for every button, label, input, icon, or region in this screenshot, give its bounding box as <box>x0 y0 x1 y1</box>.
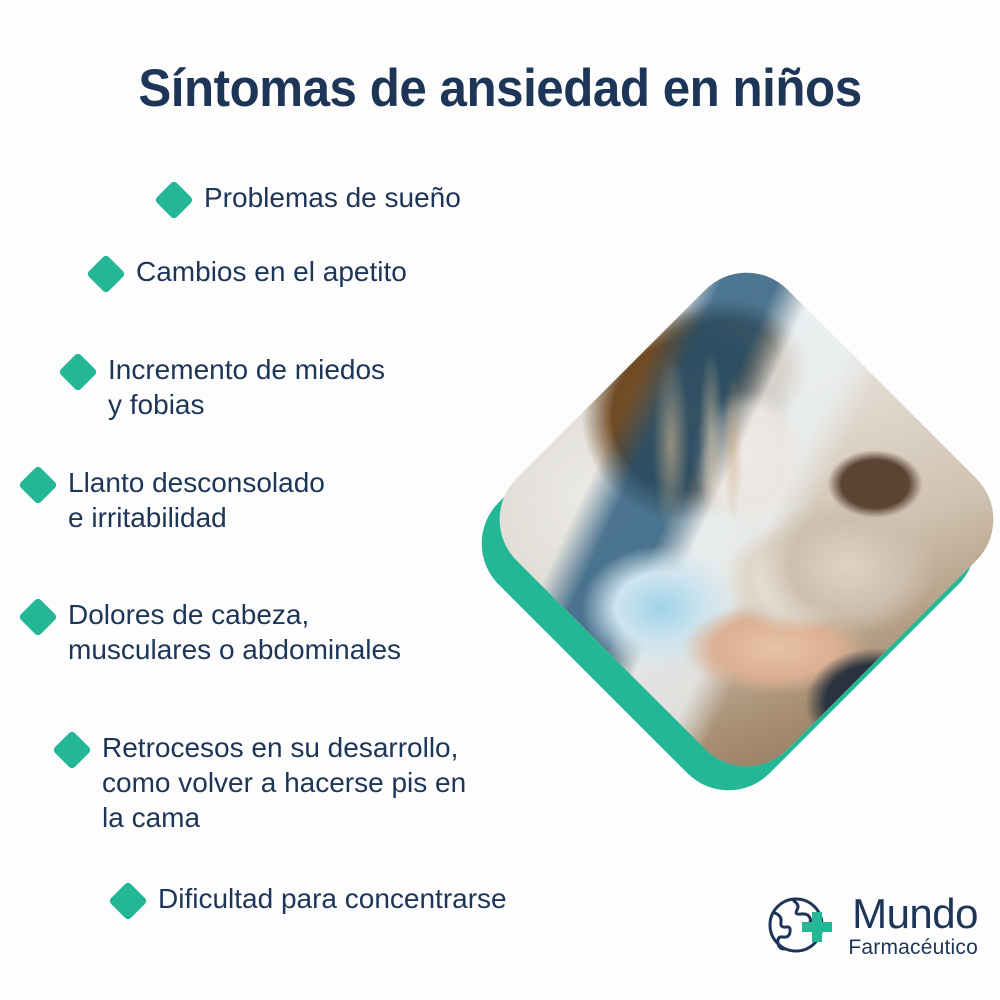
list-item: Llanto desconsolado e irritabilidad <box>24 465 325 535</box>
list-item-label: Dolores de cabeza, musculares o abdomina… <box>68 597 401 667</box>
list-item: Dificultad para concentrarse <box>114 881 507 916</box>
list-item-label: Retrocesos en su desarrollo, como volver… <box>102 730 466 835</box>
brand-wordmark: Mundo Farmacéutico <box>848 893 978 958</box>
diamond-bullet-icon <box>18 465 58 505</box>
brand-name-primary: Mundo <box>852 893 978 935</box>
diamond-bullet-icon <box>52 730 92 770</box>
list-item-label: Cambios en el apetito <box>136 254 407 289</box>
list-item: Incremento de miedos y fobias <box>64 352 385 422</box>
list-item-label: Dificultad para concentrarse <box>158 881 507 916</box>
list-item: Dolores de cabeza, musculares o abdomina… <box>24 597 401 667</box>
list-item: Cambios en el apetito <box>92 254 407 289</box>
diamond-bullet-icon <box>108 881 148 921</box>
diamond-bullet-icon <box>86 254 126 294</box>
diamond-bullet-icon <box>58 352 98 392</box>
photo-diamond <box>455 248 997 790</box>
brand-name-secondary: Farmacéutico <box>848 937 978 958</box>
brand-logo: Mundo Farmacéutico <box>764 888 978 962</box>
list-item: Retrocesos en su desarrollo, como volver… <box>58 730 466 835</box>
diamond-bullet-icon <box>18 597 58 637</box>
list-item-label: Problemas de sueño <box>204 180 461 215</box>
list-item-label: Incremento de miedos y fobias <box>108 352 385 422</box>
globe-with-medical-cross-icon <box>764 888 838 962</box>
list-item-label: Llanto desconsolado e irritabilidad <box>68 465 325 535</box>
list-item: Problemas de sueño <box>160 180 461 215</box>
child-photo-frame <box>476 249 1000 791</box>
page-title: Síntomas de ansiedad en niños <box>35 58 965 120</box>
diamond-bullet-icon <box>154 180 194 220</box>
infographic-canvas: Síntomas de ansiedad en niños Problemas … <box>0 0 1000 1000</box>
child-photo <box>476 249 1000 791</box>
